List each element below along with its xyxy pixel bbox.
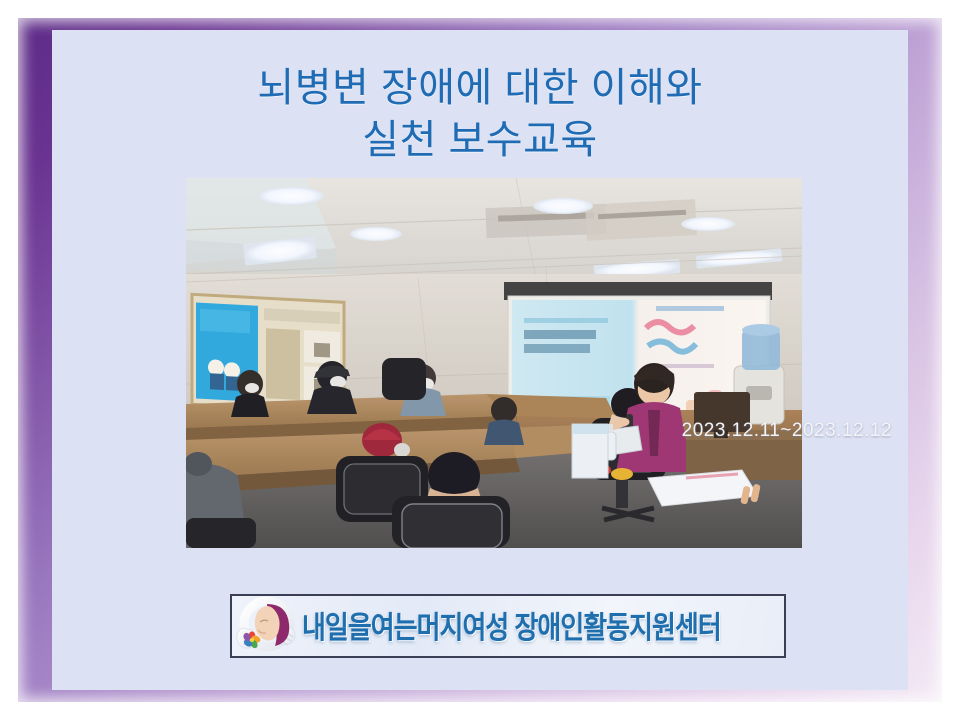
organization-logo-bar: 내일을여는머지여성 장애인활동지원센터	[230, 594, 786, 658]
training-session-photo	[186, 178, 802, 548]
organization-name: 내일을여는머지여성 장애인활동지원센터	[302, 603, 784, 647]
photo-illustration	[186, 178, 802, 548]
face-and-hands-emblem-icon	[234, 596, 300, 656]
slide-canvas: 뇌병변 장애에 대한 이해와 실천 보수교육	[52, 30, 908, 690]
date-range: 2023.12.11~2023.12.12	[682, 420, 892, 442]
page-title: 뇌병변 장애에 대한 이해와 실천 보수교육	[52, 62, 908, 166]
